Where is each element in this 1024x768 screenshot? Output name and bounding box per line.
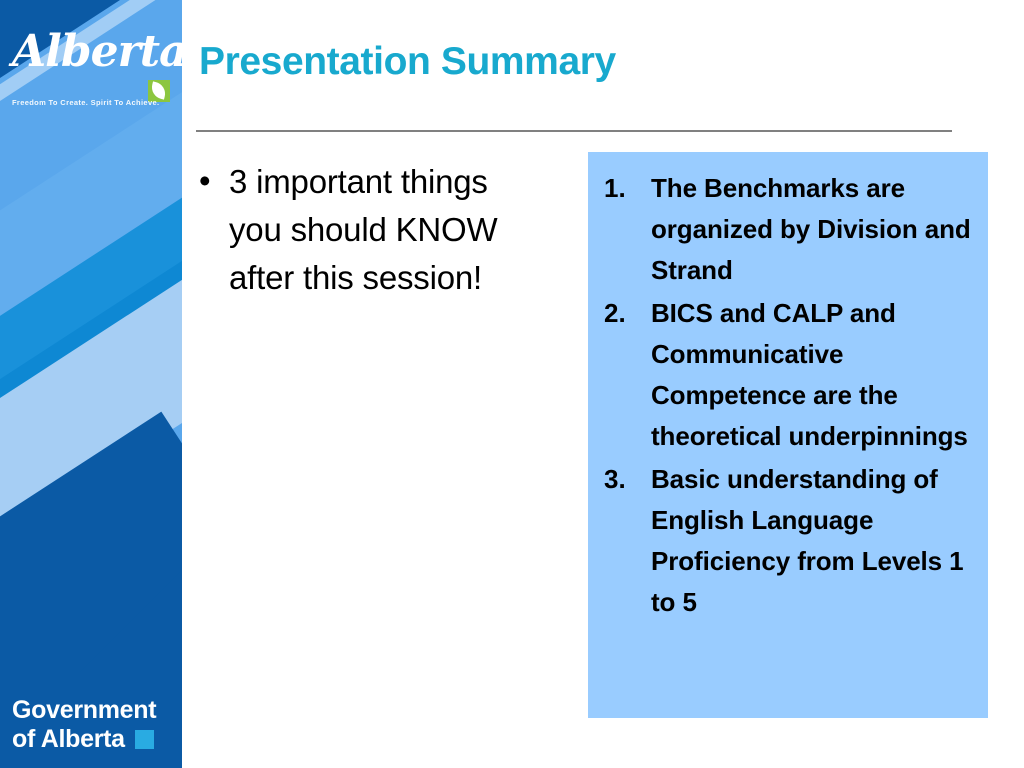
bullet-marker-icon: • bbox=[199, 158, 229, 204]
list-item-text: BICS and CALP and Communicative Competen… bbox=[651, 293, 976, 457]
list-item-number: 2. bbox=[596, 293, 651, 334]
title-divider bbox=[196, 130, 952, 132]
government-label-line1: Government bbox=[12, 696, 182, 725]
list-item-number: 1. bbox=[596, 168, 651, 209]
list-item-text: The Benchmarks are organized by Division… bbox=[651, 168, 976, 291]
page-title: Presentation Summary bbox=[199, 40, 616, 84]
alberta-logo: Alberta Freedom To Create. Spirit To Ach… bbox=[0, 22, 182, 114]
list-item: • 3 important things you should KNOW aft… bbox=[199, 158, 529, 302]
summary-callout-box: 1. The Benchmarks are organized by Divis… bbox=[588, 152, 988, 718]
alberta-square-icon bbox=[135, 730, 154, 749]
government-label-line2: of Alberta bbox=[12, 725, 125, 754]
list-item: 2. BICS and CALP and Communicative Compe… bbox=[596, 293, 976, 457]
bullet-text: 3 important things you should KNOW after… bbox=[229, 158, 529, 302]
alberta-wordmark: Alberta bbox=[12, 30, 182, 74]
list-item-number: 3. bbox=[596, 459, 651, 500]
list-item: 1. The Benchmarks are organized by Divis… bbox=[596, 168, 976, 291]
list-item-text: Basic understanding of English Language … bbox=[651, 459, 976, 623]
alberta-tagline: Freedom To Create. Spirit To Achieve. bbox=[12, 98, 159, 107]
brand-sidebar: Alberta Freedom To Create. Spirit To Ach… bbox=[0, 0, 182, 768]
bullet-list: • 3 important things you should KNOW aft… bbox=[199, 158, 529, 302]
list-item: 3. Basic understanding of English Langua… bbox=[596, 459, 976, 623]
government-of-alberta-logo: Government of Alberta bbox=[12, 696, 182, 754]
sidebar-lower-wedge bbox=[72, 560, 182, 680]
